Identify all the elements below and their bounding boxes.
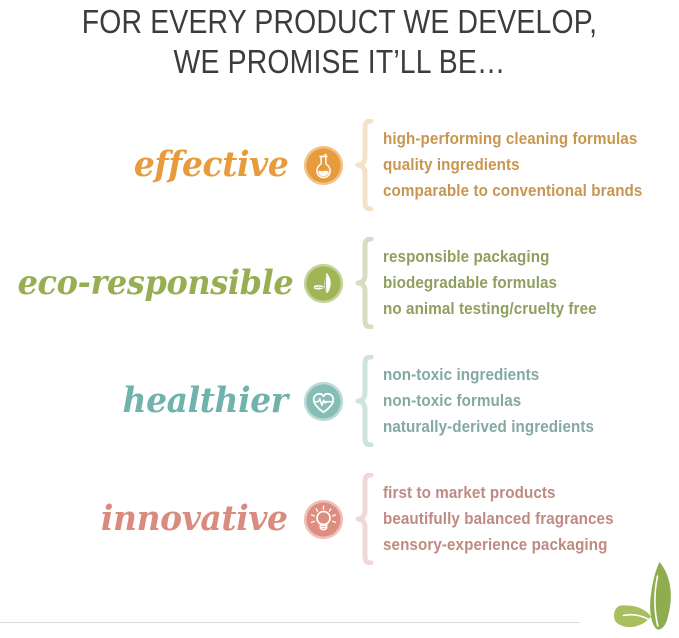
list-item: no animal testing/cruelty free bbox=[383, 296, 655, 322]
list-item: high-performing cleaning formulas bbox=[383, 126, 655, 152]
promise-label-innovative: innovative bbox=[101, 500, 288, 538]
promise-row-effective: effective high-performing cleaning formu… bbox=[0, 106, 679, 224]
promise-brace-cell bbox=[354, 473, 380, 565]
promise-icon-cell bbox=[292, 381, 354, 422]
promise-brace-cell bbox=[354, 355, 380, 447]
promise-icon-cell bbox=[292, 499, 354, 540]
list-item: non-toxic ingredients bbox=[383, 362, 655, 388]
promise-brace-cell bbox=[354, 119, 380, 211]
promise-row-healthier: healthier non-toxic ingredients non-toxi… bbox=[0, 342, 679, 460]
curly-brace-icon bbox=[354, 119, 376, 211]
flask-icon bbox=[303, 145, 344, 186]
list-item: responsible packaging bbox=[383, 244, 655, 270]
promise-label-effective: effective bbox=[133, 146, 288, 184]
curly-brace-icon bbox=[354, 355, 376, 447]
list-item: first to market products bbox=[383, 480, 655, 506]
promise-label-cell: innovative bbox=[0, 500, 292, 538]
heart-pulse-icon bbox=[303, 381, 344, 422]
promise-label-healthier: healthier bbox=[123, 382, 288, 420]
promise-text-cell: first to market products beautifully bal… bbox=[380, 480, 679, 558]
promise-row-innovative: innovative bbox=[0, 460, 679, 578]
promise-text-cell: high-performing cleaning formulas qualit… bbox=[380, 126, 679, 204]
promise-icon-cell bbox=[292, 145, 354, 186]
promise-items-eco-responsible: responsible packaging biodegradable form… bbox=[383, 244, 679, 322]
leaf-logo bbox=[597, 560, 677, 638]
list-item: non-toxic formulas bbox=[383, 388, 655, 414]
list-item: beautifully balanced fragrances bbox=[383, 506, 655, 532]
curly-brace-icon bbox=[354, 473, 376, 565]
page-title-line-1: FOR EVERY PRODUCT WE DEVELOP, bbox=[48, 2, 632, 42]
promise-label-cell: eco-responsible bbox=[0, 264, 292, 302]
promise-items-effective: high-performing cleaning formulas qualit… bbox=[383, 126, 679, 204]
promise-list: effective high-performing cleaning formu… bbox=[0, 106, 679, 578]
promise-icon-cell bbox=[292, 263, 354, 304]
promise-row-eco-responsible: eco-responsible responsible packaging bi… bbox=[0, 224, 679, 342]
leaf-icon bbox=[303, 263, 344, 304]
curly-brace-icon bbox=[354, 237, 376, 329]
footer-divider bbox=[0, 622, 580, 623]
promise-text-cell: non-toxic ingredients non-toxic formulas… bbox=[380, 362, 679, 440]
promise-items-innovative: first to market products beautifully bal… bbox=[383, 480, 679, 558]
list-item: sensory-experience packaging bbox=[383, 532, 655, 558]
promise-label-eco-responsible: eco-responsible bbox=[18, 264, 294, 302]
list-item: naturally-derived ingredients bbox=[383, 414, 655, 440]
promise-label-cell: healthier bbox=[0, 382, 292, 420]
promise-brace-cell bbox=[354, 237, 380, 329]
page-title: FOR EVERY PRODUCT WE DEVELOP, WE PROMISE… bbox=[48, 0, 632, 82]
promise-label-cell: effective bbox=[0, 146, 292, 184]
list-item: quality ingredients bbox=[383, 152, 655, 178]
promise-text-cell: responsible packaging biodegradable form… bbox=[380, 244, 679, 322]
lightbulb-icon bbox=[303, 499, 344, 540]
list-item: comparable to conventional brands bbox=[383, 178, 655, 204]
promise-items-healthier: non-toxic ingredients non-toxic formulas… bbox=[383, 362, 679, 440]
list-item: biodegradable formulas bbox=[383, 270, 655, 296]
page-title-line-2: WE PROMISE IT’LL BE… bbox=[48, 42, 632, 82]
